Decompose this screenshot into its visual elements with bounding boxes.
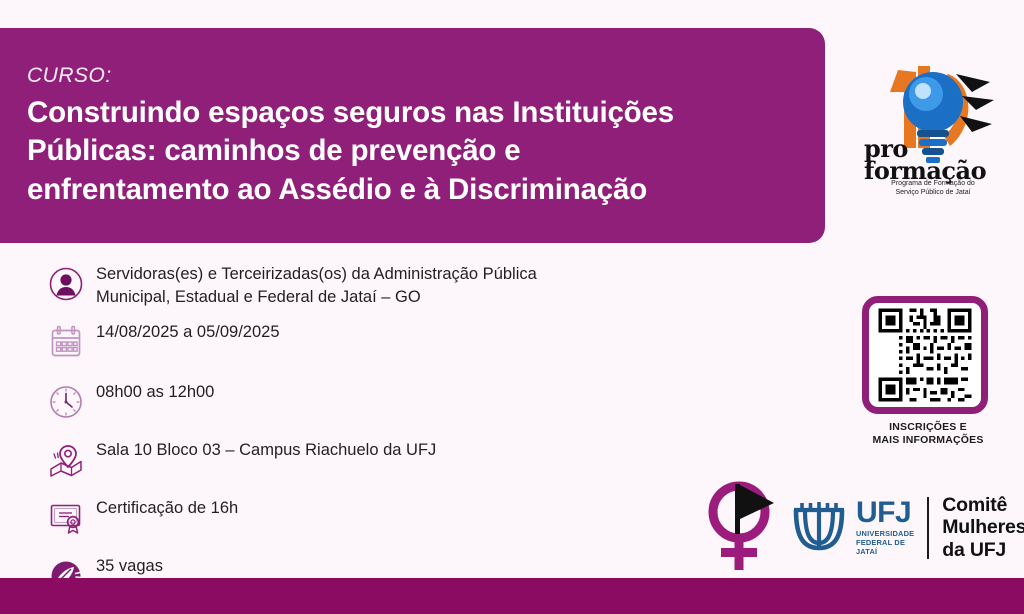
info-text-location: Sala 10 Bloco 03 – Campus Riachuelo da U… [92,434,436,462]
info-text-dates: 14/08/2025 a 05/09/2025 [92,316,280,344]
map-location-icon [40,434,92,486]
qr-code-frame[interactable] [862,296,988,414]
course-info-list: Servidoras(es) e Terceirizadas(os) da Ad… [40,258,680,612]
info-row-time: 08h00 as 12h00 [40,376,680,428]
logo-divider [927,497,929,559]
bottom-logo-group: UFJ UNIVERSIDADE FEDERAL DE JATAÍ Comitê… [700,478,1024,577]
person-icon [40,258,92,310]
qr-block[interactable]: INSCRIÇÕES E MAIS INFORMAÇÕES [862,296,994,447]
calendar-icon [40,316,92,368]
qr-code-icon[interactable] [875,305,975,405]
qr-caption: INSCRIÇÕES E MAIS INFORMAÇÕES [862,421,994,447]
info-text-time: 08h00 as 12h00 [92,376,214,404]
ufj-text-block: UFJ UNIVERSIDADE FEDERAL DE JATAÍ [856,499,914,557]
qr-caption-line-2: MAIS INFORMAÇÕES [862,434,994,447]
dates-value: 14/08/2025 a 05/09/2025 [96,321,280,344]
proformacao-logo: pro formação Programa de Formação do Ser… [860,52,1000,217]
audience-line-2: Municipal, Estadual e Federal de Jataí –… [96,286,537,309]
audience-line-1: Servidoras(es) e Terceirizadas(os) da Ad… [96,263,537,286]
clock-icon [40,376,92,428]
info-row-audience: Servidoras(es) e Terceirizadas(os) da Ad… [40,258,680,310]
location-value: Sala 10 Bloco 03 – Campus Riachuelo da U… [96,439,436,462]
time-value: 08h00 as 12h00 [96,381,214,404]
bottom-accent-bar [0,578,1024,614]
proformacao-tagline-line-2: Serviço Público de Jataí [872,189,994,198]
course-title-line-1: Construindo espaços seguros nas Institui… [27,94,807,132]
proformacao-wordmark: pro formação [864,138,1000,182]
ufj-logo: UFJ UNIVERSIDADE FEDERAL DE JATAÍ [788,494,914,561]
ufj-subtitle-line-2: FEDERAL DE JATAÍ [856,538,914,556]
course-kicker-label: CURSO: [27,64,112,88]
info-row-dates: 14/08/2025 a 05/09/2025 [40,316,680,368]
venus-symbol-with-flag-icon [700,478,778,577]
page-title: Construindo espaços seguros nas Institui… [27,94,807,209]
proformacao-tagline-line-1: Programa de Formação do [872,180,994,189]
info-row-certification: Certificação de 16h [40,492,680,544]
course-title-line-3: enfrentamento ao Assédio e à Discriminaç… [27,171,807,209]
vacancies-value: 35 vagas [96,555,163,578]
ufj-subtitle: UNIVERSIDADE FEDERAL DE JATAÍ [856,529,914,556]
certificate-icon [40,492,92,544]
ufj-acronym: UFJ [856,499,914,528]
ufj-shield-icon [788,494,850,561]
comite-line-1: Comitê [942,494,1024,517]
proformacao-word-formacao: formação [864,160,1000,182]
info-text-audience: Servidoras(es) e Terceirizadas(os) da Ad… [92,258,537,310]
ufj-subtitle-line-1: UNIVERSIDADE [856,529,914,538]
qr-caption-line-1: INSCRIÇÕES E [862,421,994,434]
info-text-vacancies: 35 vagas [92,550,163,578]
comite-line-3: da UFJ [942,539,1024,562]
info-text-certification: Certificação de 16h [92,492,238,520]
comite-mulheres-label: Comitê Mulheres da UFJ [942,494,1024,562]
header-banner: CURSO: Construindo espaços seguros nas I… [0,28,825,243]
certification-value: Certificação de 16h [96,497,238,520]
proformacao-tagline: Programa de Formação do Serviço Público … [872,180,994,198]
poster-canvas: CURSO: Construindo espaços seguros nas I… [0,0,1024,614]
comite-line-2: Mulheres [942,516,1024,539]
info-row-location: Sala 10 Bloco 03 – Campus Riachuelo da U… [40,434,680,486]
course-title-line-2: Públicas: caminhos de prevenção e [27,132,807,170]
